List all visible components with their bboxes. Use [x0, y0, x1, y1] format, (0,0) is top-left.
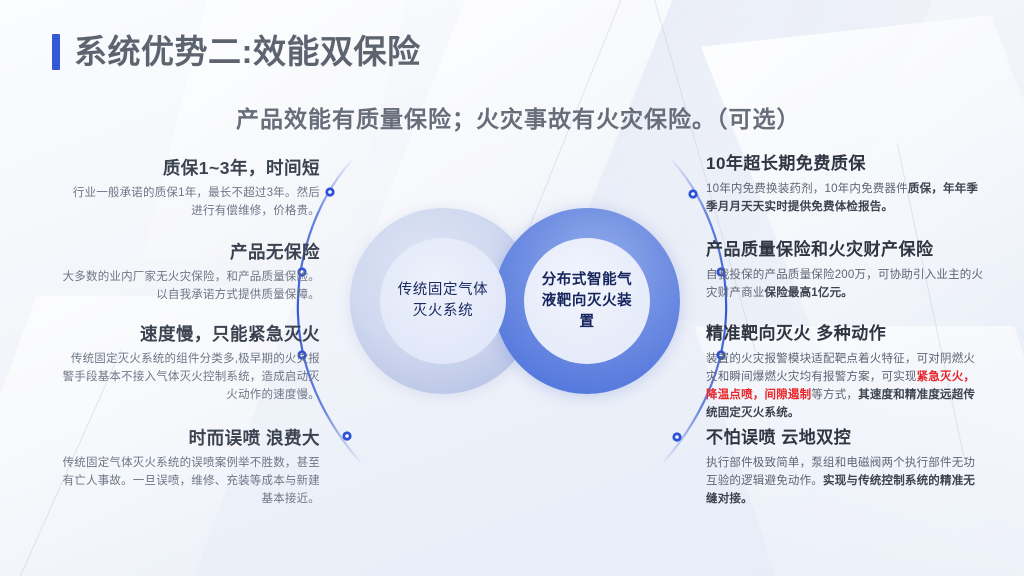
left-item-1[interactable]: 质保1~3年，时间短 行业一般承诺的质保1年，最长不超过3年。然后进行有偿维修，… — [62, 156, 320, 220]
right-item-3-desc: 装置的火灾报警模块适配靶点着火特征，可对阴燃火灾和瞬间爆燃火灾均有报警方案，可实… — [706, 350, 984, 422]
right-item-1-title: 10年超长期免费质保 — [706, 152, 984, 176]
right-item-3[interactable]: 精准靶向灭火 多种动作 装置的火灾报警模块适配靶点着火特征，可对阴燃火灾和瞬间爆… — [706, 322, 984, 422]
left-item-4[interactable]: 时而误喷 浪费大 传统固定气体灭火系统的误喷案例举不胜数，甚至有亡人事故。一旦误… — [62, 426, 320, 508]
left-item-3-title: 速度慢，只能紧急灭火 — [62, 322, 320, 346]
right-item-2-title: 产品质量保险和火灾财产保险 — [706, 238, 984, 262]
left-item-2[interactable]: 产品无保险 大多数的业内厂家无火灾保险，和产品质量保险。以自我承诺方式提供质量保… — [62, 240, 320, 304]
right-item-4[interactable]: 不怕误喷 云地双控 执行部件极致简单，泵组和电磁阀两个执行部件无功互验的逻辑避免… — [706, 426, 984, 508]
right-item-3-title: 精准靶向灭火 多种动作 — [706, 322, 984, 346]
left-item-4-title: 时而误喷 浪费大 — [62, 426, 320, 450]
left-item-1-title: 质保1~3年，时间短 — [62, 156, 320, 180]
left-item-3-desc: 传统固定灭火系统的组件分类多,极早期的火灾报警手段基本不接入气体灭火控制系统，造… — [62, 350, 320, 404]
left-item-2-title: 产品无保险 — [62, 240, 320, 264]
right-item-1[interactable]: 10年超长期免费质保 10年内免费换装药剂，10年内免费器件质保，年年季季月月天… — [706, 152, 984, 216]
venn-diagram: 传统固定气体灭火系统 分布式智能气液靶向灭火装置 — [350, 208, 680, 394]
slide-root: 系统优势二:效能双保险 产品效能有质量保险；火灾事故有火灾保险。（可选） — [0, 0, 1024, 576]
page-title: 系统优势二:效能双保险 — [74, 34, 421, 70]
right-item-2-desc: 自我投保的产品质量保险200万，可协助引入业主的火灾财产商业保险最高1亿元。 — [706, 266, 984, 302]
left-item-1-desc: 行业一般承诺的质保1年，最长不超过3年。然后进行有偿维修，价格贵。 — [62, 184, 320, 220]
right-item-1-desc: 10年内免费换装药剂，10年内免费器件质保，年年季季月月天天实时提供免费体检报告… — [706, 180, 984, 216]
venn-label-right: 分布式智能气液靶向灭火装置 — [540, 270, 634, 333]
venn-label-left: 传统固定气体灭火系统 — [396, 280, 490, 322]
right-item-2[interactable]: 产品质量保险和火灾财产保险 自我投保的产品质量保险200万，可协助引入业主的火灾… — [706, 238, 984, 302]
page-header: 系统优势二:效能双保险 — [52, 34, 421, 70]
title-accent-bar — [52, 34, 60, 70]
page-subtitle: 产品效能有质量保险；火灾事故有火灾保险。（可选） — [236, 100, 801, 134]
right-item-4-desc: 执行部件极致简单，泵组和电磁阀两个执行部件无功互验的逻辑避免动作。实现与传统控制… — [706, 454, 984, 508]
left-item-3[interactable]: 速度慢，只能紧急灭火 传统固定灭火系统的组件分类多,极早期的火灾报警手段基本不接… — [62, 322, 320, 404]
right-item-4-title: 不怕误喷 云地双控 — [706, 426, 984, 450]
venn-inner-right: 分布式智能气液靶向灭火装置 — [524, 238, 650, 364]
left-item-4-desc: 传统固定气体灭火系统的误喷案例举不胜数，甚至有亡人事故。一旦误喷，维修、充装等成… — [62, 454, 320, 508]
left-item-2-desc: 大多数的业内厂家无火灾保险，和产品质量保险。以自我承诺方式提供质量保障。 — [62, 268, 320, 304]
venn-inner-left: 传统固定气体灭火系统 — [380, 238, 506, 364]
